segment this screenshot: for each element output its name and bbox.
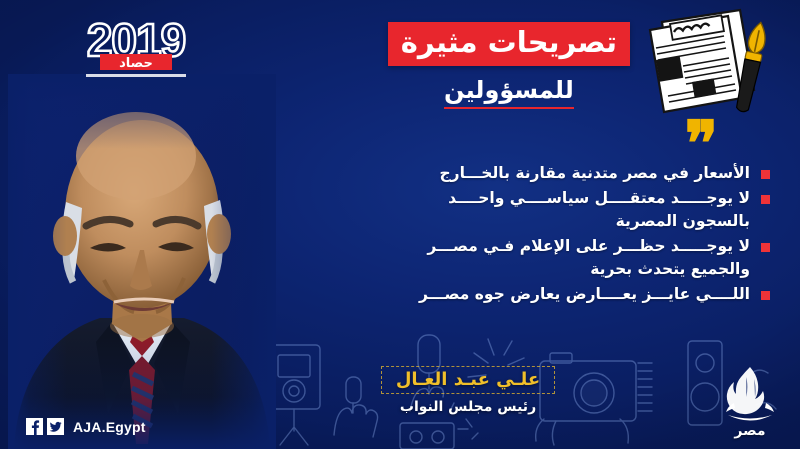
portrait-ali-abdel-aal bbox=[8, 74, 276, 449]
quote-list: الأسعار في مصر متدنية مقارنة بالخـــارج … bbox=[380, 162, 770, 308]
list-item: اللــــي عايـــز يعــــارض يعارض جوه مصـ… bbox=[380, 283, 770, 305]
avatar bbox=[8, 74, 276, 449]
aljazeera-logo: مصر bbox=[714, 363, 786, 441]
newspaper-icon bbox=[634, 4, 792, 124]
social-bar[interactable]: AJA.Egypt bbox=[26, 418, 146, 435]
quote-line: الأسعار في مصر متدنية مقارنة بالخـــارج bbox=[380, 162, 750, 184]
year-logo: 2019 حصاد bbox=[68, 12, 204, 78]
social-handle: AJA.Egypt bbox=[73, 419, 146, 435]
svg-text:حصاد: حصاد bbox=[119, 56, 153, 71]
bullet-square-icon bbox=[761, 170, 770, 179]
quote-line: لا يوجـــــد حظـــر على الإعلام فـي مصــ… bbox=[380, 235, 750, 257]
facebook-icon[interactable] bbox=[26, 418, 43, 435]
quote-line-continued: بالسجون المصرية bbox=[380, 210, 750, 232]
headline-block: تصريحات مثيرة للمسؤولين bbox=[388, 22, 630, 109]
quote-line: لا يوجـــــد معتقــــل سياســــي واحــــ… bbox=[380, 187, 750, 209]
speaker-name: علـي عبـد العـال bbox=[381, 366, 555, 394]
quote-line-continued: والجميع يتحدث بحرية bbox=[380, 258, 750, 280]
bullet-square-icon bbox=[761, 291, 770, 300]
list-item: الأسعار في مصر متدنية مقارنة بالخـــارج bbox=[380, 162, 770, 184]
page-title: تصريحات مثيرة bbox=[388, 22, 630, 66]
list-item: لا يوجـــــد حظـــر على الإعلام فـي مصــ… bbox=[380, 235, 770, 280]
speaker-block: علـي عبـد العـال رئيس مجلس النواب bbox=[368, 366, 568, 415]
page-subtitle: للمسؤولين bbox=[444, 77, 574, 109]
list-item: لا يوجـــــد معتقــــل سياســــي واحــــ… bbox=[380, 187, 770, 232]
twitter-icon[interactable] bbox=[47, 418, 64, 435]
quote-line: اللــــي عايـــز يعــــارض يعارض جوه مصـ… bbox=[380, 283, 750, 305]
quote-card: 2019 حصاد تصريحات مثيرة للمسؤولين bbox=[0, 0, 800, 449]
bullet-square-icon bbox=[761, 243, 770, 252]
speaker-title: رئيس مجلس النواب bbox=[368, 399, 568, 415]
bullet-square-icon bbox=[761, 195, 770, 204]
aljazeera-region-label: مصر bbox=[714, 423, 786, 439]
